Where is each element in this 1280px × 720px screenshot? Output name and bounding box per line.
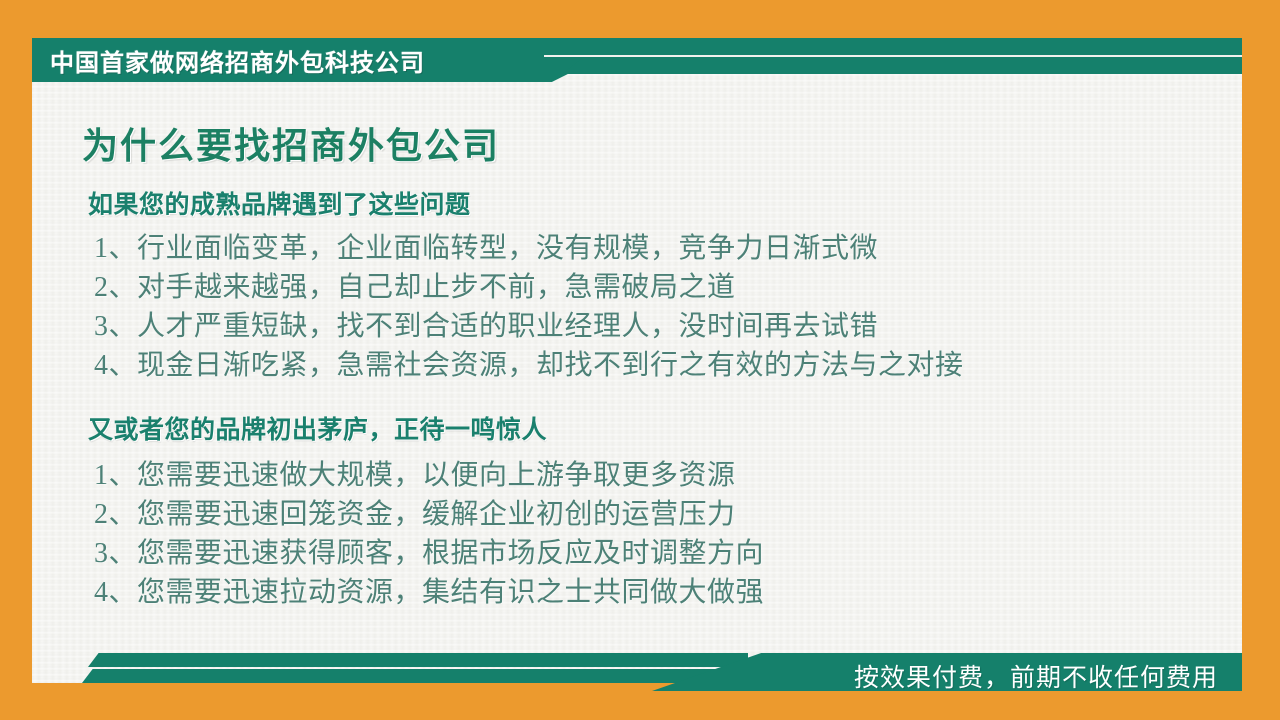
list-item: 3、您需要迅速获得顾客，根据市场反应及时调整方向: [94, 534, 1218, 573]
content-area: 为什么要找招商外包公司 如果您的成熟品牌遇到了这些问题 1、行业面临变革，企业面…: [32, 92, 1242, 637]
footer-band: 按效果付费，前期不收任何费用: [32, 645, 1242, 690]
footer-tagline: 按效果付费，前期不收任何费用: [854, 658, 1218, 694]
list-item: 3、人才严重短缺，找不到合适的职业经理人，没时间再去试错: [94, 307, 1218, 346]
list-item: 1、您需要迅速做大规模，以便向上游争取更多资源: [94, 456, 1218, 495]
section-mature-brand: 如果您的成熟品牌遇到了这些问题 1、行业面临变革，企业面临转型，没有规模，竞争力…: [88, 185, 1218, 385]
section-new-brand: 又或者您的品牌初出茅庐，正待一鸣惊人 1、您需要迅速做大规模，以便向上游争取更多…: [88, 410, 1218, 612]
list-item: 1、行业面临变革，企业面临转型，没有规模，竞争力日渐式微: [94, 229, 1218, 268]
slide-root: 中国首家做网络招商外包科技公司 为什么要找招商外包公司 如果您的成熟品牌遇到了这…: [0, 0, 1280, 720]
problem-list-1: 1、行业面临变革，企业面临转型，没有规模，竞争力日渐式微 2、对手越来越强，自己…: [94, 229, 1218, 385]
footer-rule-top: [88, 653, 748, 667]
list-item: 4、现金日渐吃紧，急需社会资源，却找不到行之有效的方法与之对接: [94, 346, 1218, 385]
list-item: 4、您需要迅速拉动资源，集结有识之士共同做大做强: [94, 573, 1218, 612]
section-heading-2: 又或者您的品牌初出茅庐，正待一鸣惊人: [88, 410, 1218, 446]
problem-list-2: 1、您需要迅速做大规模，以便向上游争取更多资源 2、您需要迅速回笼资金，缓解企业…: [94, 456, 1218, 612]
footer-rule-bottom: [82, 669, 748, 683]
list-item: 2、您需要迅速回笼资金，缓解企业初创的运营压力: [94, 495, 1218, 534]
page-title: 为什么要找招商外包公司: [82, 117, 500, 169]
section-heading-1: 如果您的成熟品牌遇到了这些问题: [88, 185, 1218, 221]
list-item: 2、对手越来越强，自己却止步不前，急需破局之道: [94, 268, 1218, 307]
